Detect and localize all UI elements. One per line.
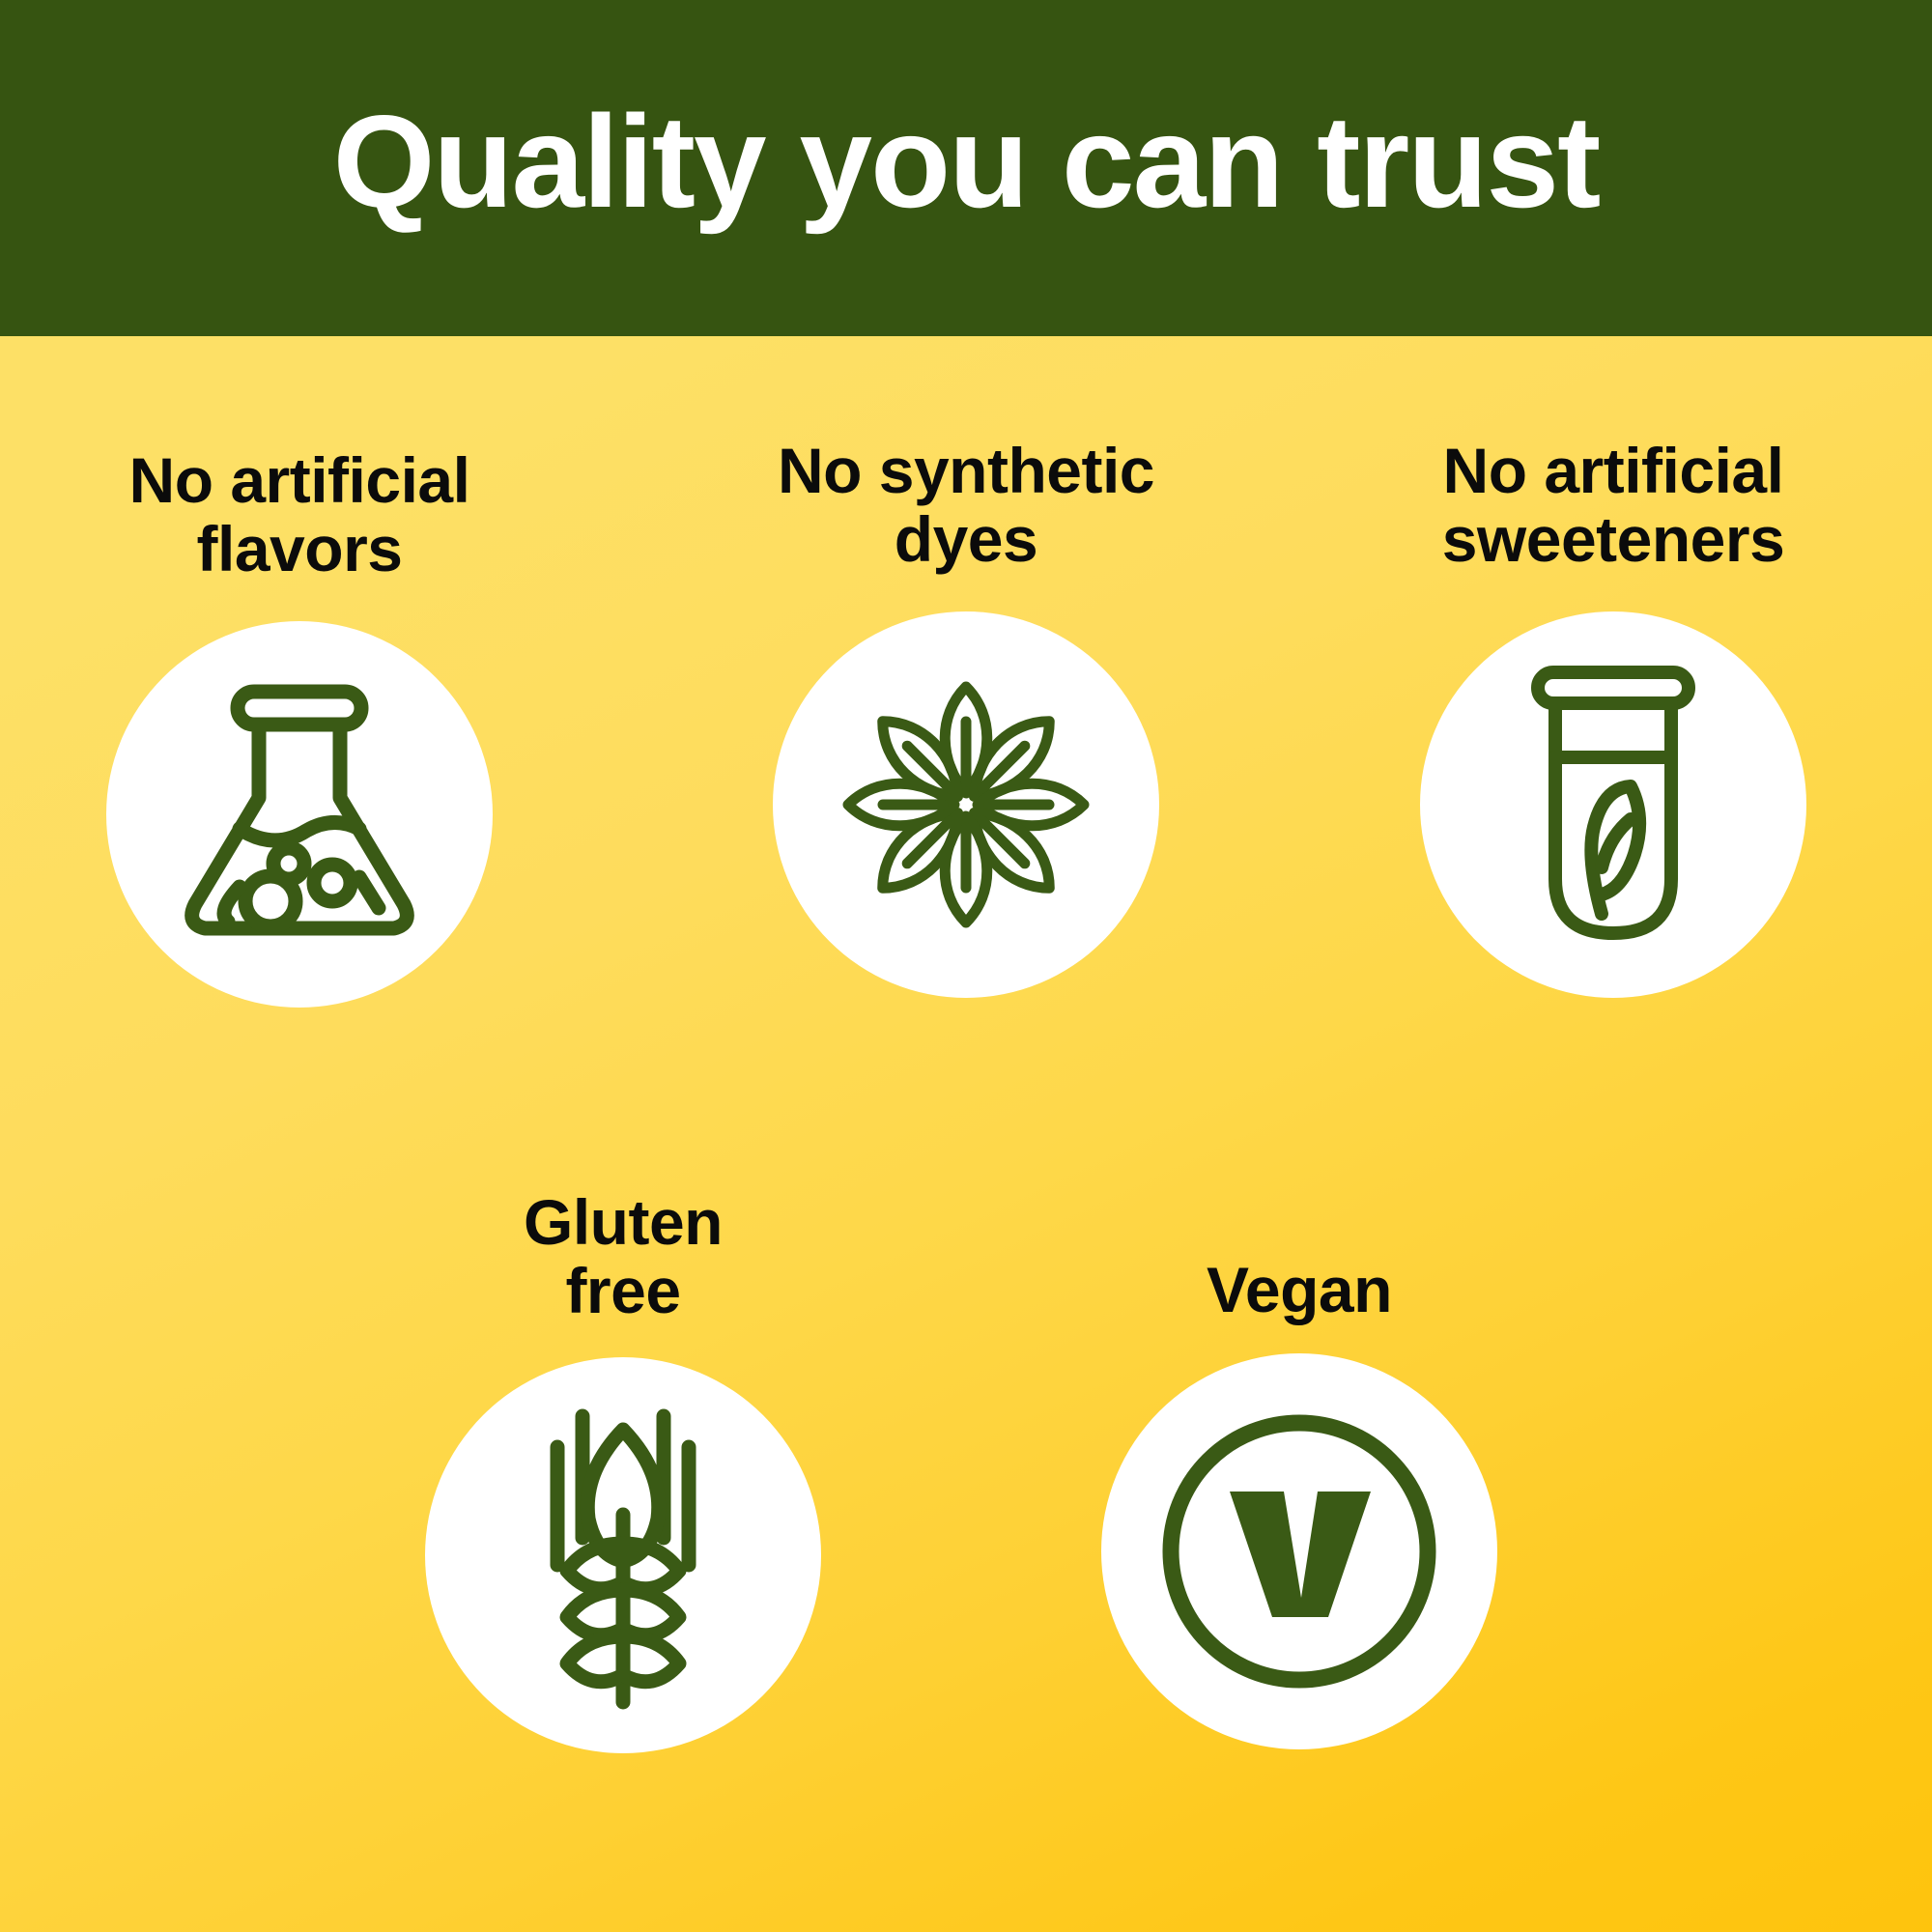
wheat-icon — [526, 1401, 720, 1710]
badge-label-no-synthetic-dyes: No synthetic dyes — [778, 437, 1154, 575]
badge-circle-no-synthetic-dyes — [773, 611, 1159, 998]
badge-circle-no-artificial-sweeteners — [1420, 611, 1806, 998]
badge-label-no-artificial-flavors: No artificial flavors — [129, 446, 470, 584]
badge-circle-gluten-free — [425, 1357, 821, 1753]
badge-label-no-artificial-sweeteners: No artificial sweeteners — [1442, 437, 1785, 575]
badge-circle-vegan — [1101, 1353, 1497, 1749]
quality-badges-infographic: Quality you can trust No artificial flav… — [0, 0, 1932, 1932]
badge-label-vegan: Vegan — [1207, 1256, 1392, 1324]
flask-icon — [174, 684, 425, 945]
badge-no-synthetic-dyes: No synthetic dyes — [676, 437, 1256, 998]
test-tube-leaf-icon — [1526, 665, 1700, 945]
badge-label-gluten-free: Gluten free — [524, 1188, 723, 1326]
badge-circle-no-artificial-flavors — [106, 621, 493, 1008]
badge-gluten-free: Gluten free — [348, 1188, 898, 1753]
badge-no-artificial-flavors: No artificial flavors — [29, 446, 570, 1008]
vegan-v-icon — [1154, 1406, 1444, 1696]
page-title: Quality you can trust — [333, 96, 1600, 241]
badge-vegan: Vegan — [1024, 1256, 1575, 1749]
header-band: Quality you can trust — [0, 0, 1932, 336]
flower-icon — [826, 665, 1106, 945]
badge-no-artificial-sweeteners: No artificial sweeteners — [1323, 437, 1903, 998]
